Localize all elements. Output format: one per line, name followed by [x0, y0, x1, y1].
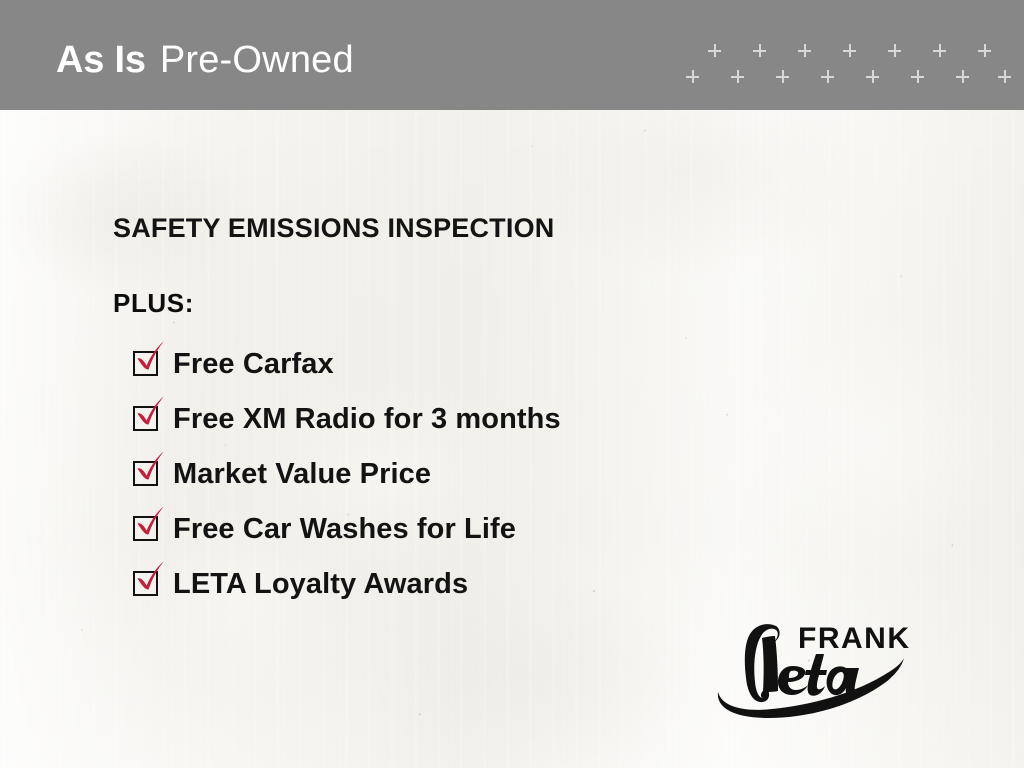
header-band: As IsPre-Owned [0, 0, 1024, 110]
checkbox-outline [133, 571, 158, 596]
plus-icon [998, 70, 1011, 83]
plus-icon [708, 44, 721, 57]
list-item-label: Free XM Radio for 3 months [173, 397, 561, 441]
logo-script-e [778, 666, 808, 695]
plus-decoration-pattern [668, 38, 1016, 94]
logo-artwork: FRANK [706, 608, 916, 720]
list-item-label: LETA Loyalty Awards [173, 562, 468, 606]
benefits-list: Free Carfax Free XM Radio for 3 months M… [133, 342, 913, 617]
frank-leta-logo: FRANK [706, 608, 916, 720]
plus-section-label: PLUS: [113, 288, 194, 319]
plus-icon [798, 44, 811, 57]
subhead-text: SAFETY EMISSIONS INSPECTION [113, 213, 554, 244]
plus-icon [978, 44, 991, 57]
plus-icon [888, 44, 901, 57]
logo-script-a [827, 666, 860, 696]
list-item-label: Free Carfax [173, 342, 334, 386]
plus-icon [866, 70, 879, 83]
plus-icon [686, 70, 699, 83]
plus-icon [933, 44, 946, 57]
checkbox-outline [133, 461, 158, 486]
page-title-strong: As Is [56, 39, 146, 81]
logo-script-L-stem [762, 636, 778, 692]
plus-icon [956, 70, 969, 83]
list-item: Free Car Washes for Life [133, 507, 913, 562]
list-item-label: Free Car Washes for Life [173, 507, 516, 551]
plus-icon [911, 70, 924, 83]
logo-script-t [805, 654, 827, 696]
slide-canvas: As IsPre-Owned SAFETY EMISSIONS INSPECTI… [0, 0, 1024, 768]
plus-icon [821, 70, 834, 83]
checkbox-outline [133, 516, 158, 541]
plus-icon [731, 70, 744, 83]
list-item: Market Value Price [133, 452, 913, 507]
logo-top-word: FRANK [798, 622, 911, 655]
page-title-light: Pre-Owned [160, 39, 354, 81]
checkbox-outline [133, 351, 158, 376]
list-item-label: Market Value Price [173, 452, 431, 496]
list-item: Free XM Radio for 3 months [133, 397, 913, 452]
plus-icon [776, 70, 789, 83]
plus-icon [843, 44, 856, 57]
list-item: Free Carfax [133, 342, 913, 397]
page-title: As IsPre-Owned [56, 38, 354, 82]
plus-icon [753, 44, 766, 57]
checkbox-outline [133, 406, 158, 431]
